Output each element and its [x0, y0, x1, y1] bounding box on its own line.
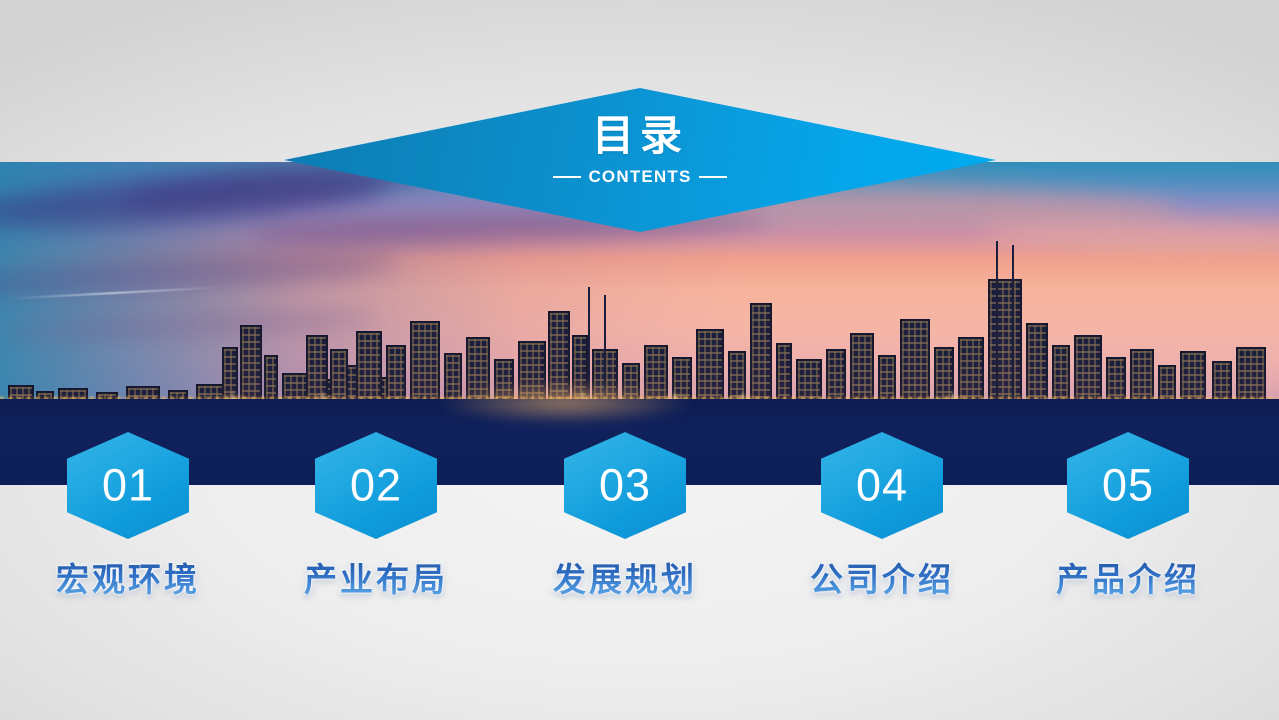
hexagon-badge-05[interactable]: 05 — [1067, 432, 1189, 539]
entry-label: 产品介绍 — [1043, 553, 1213, 601]
entry-number: 03 — [564, 462, 686, 507]
entry-number: 01 — [67, 462, 189, 507]
entry-label: 产业布局 — [291, 553, 461, 601]
hexagon-badge-04[interactable]: 04 — [821, 432, 943, 539]
entry-label: 公司介绍 — [797, 553, 967, 601]
toc-entry-04[interactable]: 04 公司介绍 — [797, 432, 967, 601]
entry-number: 02 — [315, 462, 437, 507]
toc-entry-03[interactable]: 03 发展规划 — [540, 432, 710, 601]
toc-slide: 目录 CONTENTS 01 宏观环境 02 产业布局 03 发展 — [0, 0, 1279, 720]
hexagon-badge-03[interactable]: 03 — [564, 432, 686, 539]
hexagon-badge-02[interactable]: 02 — [315, 432, 437, 539]
entry-label: 宏观环境 — [43, 553, 213, 601]
toc-entry-05[interactable]: 05 产品介绍 — [1043, 432, 1213, 601]
entry-number: 05 — [1067, 462, 1189, 507]
toc-entry-02[interactable]: 02 产业布局 — [291, 432, 461, 601]
toc-entry-row: 01 宏观环境 02 产业布局 03 发展规划 04 公司介绍 05 — [0, 0, 1279, 720]
toc-entry-01[interactable]: 01 宏观环境 — [43, 432, 213, 601]
hexagon-badge-01[interactable]: 01 — [67, 432, 189, 539]
entry-label: 发展规划 — [540, 553, 710, 601]
entry-number: 04 — [821, 462, 943, 507]
